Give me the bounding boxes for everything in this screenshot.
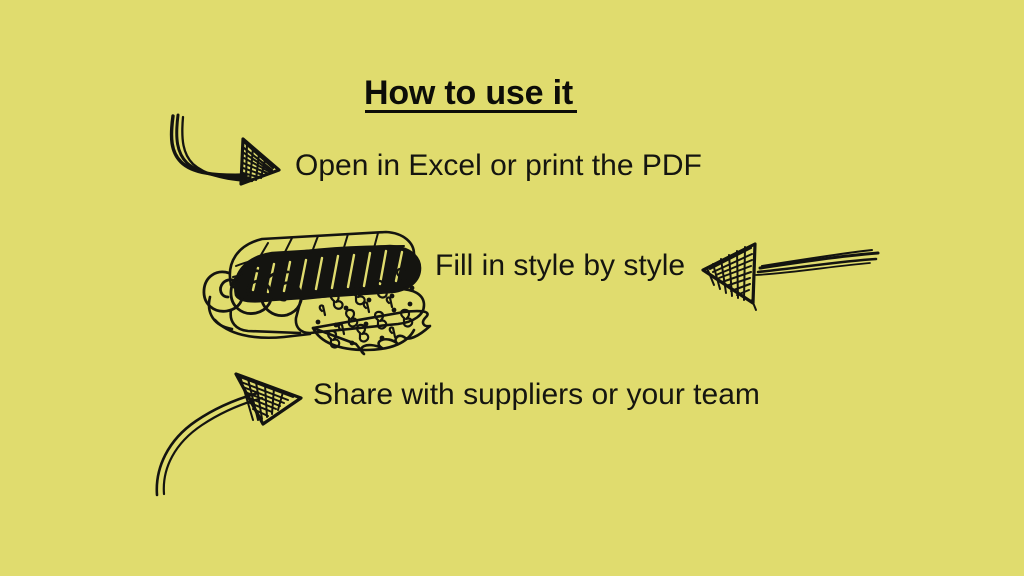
step-text-1: Open in Excel or print the PDF	[295, 151, 702, 181]
slide-canvas: How to use it Open in Excel or print the…	[0, 0, 1024, 576]
arrow-left-icon	[703, 244, 878, 310]
fabric-rolls-doodle	[204, 232, 430, 354]
curved-arrow-up-right-icon	[157, 374, 301, 495]
step-text-3: Share with suppliers or your team	[313, 380, 760, 410]
curved-arrow-right-icon	[172, 115, 279, 184]
page-title-underline	[365, 110, 577, 113]
page-title: How to use it	[364, 76, 573, 110]
step-text-2: Fill in style by style	[435, 251, 685, 281]
